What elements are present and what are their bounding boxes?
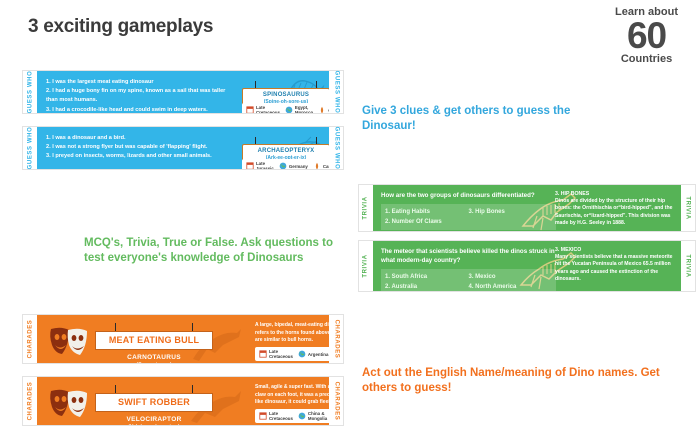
english-name: SWIFT ROBBER — [98, 397, 210, 408]
badge-label: Late Jurassic — [256, 161, 274, 169]
infographic-page: 3 exciting gameplays Learn about 60 Coun… — [0, 0, 700, 444]
globe-icon — [298, 350, 306, 358]
badge-label: Carnivore — [323, 164, 329, 169]
clue-item: 3. I preyed on insects, worms, lizards a… — [46, 152, 236, 161]
charades-card[interactable]: CHARADES MEAT EATING BULL CAR — [22, 314, 344, 364]
trivia-answer-block: 3. MEXICO Many scientists believe that a… — [555, 246, 673, 284]
trivia-option[interactable] — [469, 217, 553, 227]
trivia-question: How are the two groups of dinosaurs diff… — [381, 191, 556, 200]
charades-tab-left: CHARADES — [23, 377, 37, 425]
badge-region: China & Mongolia — [298, 411, 327, 421]
clue-item: 3. I had a crocodile-like head and could… — [46, 106, 236, 113]
trivia-option[interactable]: 4. North America — [469, 282, 553, 291]
guess-who-card[interactable]: GUESS WHO 1. I was the largest meat eati… — [22, 70, 344, 114]
trivia-tab-label: TRIVIA — [685, 196, 691, 219]
trivia-answer-title: 3. HIP BONES — [555, 190, 673, 198]
charades-description: Small, agile & super fast. With a sickle… — [255, 384, 329, 407]
period-icon — [259, 412, 267, 420]
badge-period: Late Cretaceous — [246, 105, 280, 113]
trivia-option[interactable]: 2. Number Of Claws — [385, 217, 469, 227]
clue-item: 1. I was the largest meat eating dinosau… — [46, 78, 236, 87]
badge-label: Egypt, Morocco — [295, 105, 313, 113]
trivia-question: The meteor that scientists believe kille… — [381, 247, 556, 265]
guess-who-tab-left: GUESS WHO — [23, 127, 37, 169]
scientific-name: CARNOTAURUS — [95, 353, 213, 362]
charades-tab-label: CHARADES — [27, 320, 33, 359]
badge-region: Argentina — [298, 350, 329, 358]
trivia-tab-label: TRIVIA — [685, 254, 691, 277]
badge-label: China & Mongolia — [308, 411, 327, 421]
fact-badges: Late Jurassic Germany Carnivore — [242, 159, 329, 169]
sign-strings — [95, 323, 213, 331]
charades-tab-left: CHARADES — [23, 315, 37, 363]
guess-who-tab-left: GUESS WHO — [23, 71, 37, 113]
badge-period: Late Cretaceous — [259, 411, 293, 421]
charades-instruction: Act out the English Name/meaning of Dino… — [362, 366, 662, 396]
guess-who-instruction: Give 3 clues & get others to guess the D… — [362, 104, 592, 134]
trivia-tab-left: TRIVIA — [359, 185, 373, 231]
trivia-instruction: MCQ's, Trivia, True or False. Ask questi… — [84, 236, 339, 266]
guess-who-tab-label: GUESS WHO — [27, 71, 33, 114]
globe-icon — [279, 162, 287, 169]
trivia-question-block: The meteor that scientists believe kille… — [381, 247, 556, 291]
trivia-option[interactable]: 3. Mexico — [469, 272, 553, 282]
guess-who-card-body: 1. I was a dinosaur and a bird. 2. I was… — [37, 127, 329, 169]
badge-label: Late Cretaceous — [256, 105, 280, 113]
guess-who-tab-label: GUESS WHO — [333, 127, 339, 170]
sign-plate: MEAT EATING BULL — [95, 331, 213, 350]
clue-list: 1. I was the largest meat eating dinosau… — [46, 78, 236, 113]
badge-label: Argentina — [308, 352, 329, 357]
period-icon — [246, 106, 254, 113]
sign-plate: SWIFT ROBBER — [95, 393, 213, 412]
charades-name-sign: MEAT EATING BULL CARNOTAURUS (Car-no-tor… — [95, 323, 213, 363]
guess-who-tab-label: GUESS WHO — [27, 127, 33, 170]
trivia-option[interactable]: 2. Australia — [385, 282, 469, 291]
trivia-tab-right: TRIVIA — [681, 185, 695, 231]
english-name: MEAT EATING BULL — [98, 335, 210, 346]
countries-label: Countries — [615, 53, 678, 66]
trivia-answer-title: 3. MEXICO — [555, 246, 673, 254]
trivia-tab-left: TRIVIA — [359, 241, 373, 291]
clue-item: 2. I was not a strong flyer but was capa… — [46, 143, 236, 152]
learn-about-badge: Learn about 60 Countries — [615, 6, 678, 66]
guess-who-card[interactable]: GUESS WHO 1. I was a dinosaur and a bird… — [22, 126, 344, 170]
diet-icon — [313, 162, 321, 169]
globe-icon — [285, 106, 293, 113]
clue-item: 1. I was a dinosaur and a bird. — [46, 134, 236, 143]
period-icon — [246, 162, 254, 169]
clue-item: 2. I had a huge bony fin on my spine, kn… — [46, 87, 236, 105]
trivia-options: 1. South Africa 3. Mexico 2. Australia 4… — [381, 269, 556, 291]
trivia-options: 1. Eating Habits 3. Hip Bones 2. Number … — [381, 204, 556, 230]
trivia-card[interactable]: TRIVIA How are the two groups of dinosau… — [358, 184, 696, 232]
guess-who-tab-right: GUESS WHO — [329, 71, 343, 113]
badge-label: Germany — [289, 164, 308, 169]
fact-badges: Late Cretaceous Egypt, Morocco Carnivore — [242, 103, 329, 113]
trivia-answer-text: Dinos are divided by the structure of th… — [555, 198, 673, 228]
diet-icon — [318, 106, 326, 113]
sign-strings — [242, 81, 329, 88]
period-icon — [259, 350, 267, 358]
trivia-tab-label: TRIVIA — [363, 254, 369, 277]
charades-tab-label: CHARADES — [333, 320, 339, 359]
badge-period: Late Jurassic — [246, 161, 274, 169]
trivia-question-block: How are the two groups of dinosaurs diff… — [381, 191, 556, 230]
badge-label: Carnivore — [328, 108, 329, 113]
trivia-tab-right: TRIVIA — [681, 241, 695, 291]
trivia-tab-label: TRIVIA — [363, 196, 369, 219]
sign-strings — [95, 385, 213, 393]
country-count: 60 — [615, 19, 678, 53]
guess-who-card-body: 1. I was the largest meat eating dinosau… — [37, 71, 329, 113]
charades-card-body: MEAT EATING BULL CARNOTAURUS (Car-no-tor… — [37, 315, 329, 363]
trivia-option[interactable]: 1. Eating Habits — [385, 207, 469, 217]
clue-list: 1. I was a dinosaur and a bird. 2. I was… — [46, 134, 236, 162]
charades-card[interactable]: CHARADES SWIFT ROBBER VELOCIR — [22, 376, 344, 426]
badge-region: Egypt, Morocco — [285, 105, 313, 113]
dino-pronunciation: (Car-no-tor-us) — [95, 362, 213, 363]
charades-tab-label: CHARADES — [27, 382, 33, 421]
trivia-option[interactable]: 1. South Africa — [385, 272, 469, 282]
trivia-option[interactable]: 3. Hip Bones — [469, 207, 553, 217]
guess-who-tab-label: GUESS WHO — [333, 71, 339, 114]
trivia-answer-block: 3. HIP BONES Dinos are divided by the st… — [555, 190, 673, 228]
badge-diet: Carnivore — [313, 162, 329, 169]
trivia-answer-text: Many scientists believe that a massive m… — [555, 254, 673, 284]
trivia-card-body: The meteor that scientists believe kille… — [373, 241, 681, 291]
badge-label: Late Cretaceous — [269, 349, 293, 359]
trivia-card[interactable]: TRIVIA The meteor that scientists believ… — [358, 240, 696, 292]
page-title: 3 exciting gameplays — [28, 16, 213, 38]
badge-period: Late Cretaceous — [259, 349, 293, 359]
badge-label: Late Cretaceous — [269, 411, 293, 421]
theatre-masks-icon — [47, 325, 91, 359]
fact-badges: Late Cretaceous China & Mongolia Carnivo… — [255, 409, 329, 423]
charades-tab-right: CHARADES — [329, 315, 343, 363]
charades-tab-label: CHARADES — [333, 382, 339, 421]
charades-description: A large, bipedal, meat-eating dinosaur. … — [255, 322, 329, 345]
dino-name: SPINOSAURUS — [245, 91, 327, 99]
charades-tab-right: CHARADES — [329, 377, 343, 425]
charades-name-sign: SWIFT ROBBER VELOCIRAPTOR (Veh-loss-uh-r… — [95, 385, 213, 425]
dino-pronunciation: (Veh-loss-uh-rap-tow) — [95, 424, 213, 425]
charades-card-body: SWIFT ROBBER VELOCIRAPTOR (Veh-loss-uh-r… — [37, 377, 329, 425]
sign-strings — [242, 137, 329, 144]
fact-badges: Late Cretaceous Argentina Carnivore — [255, 347, 329, 361]
scientific-name: VELOCIRAPTOR — [95, 415, 213, 424]
dino-name: ARCHAEOPTERYX — [245, 147, 327, 155]
theatre-masks-icon — [47, 387, 91, 421]
badge-region: Germany — [279, 162, 308, 169]
badge-diet: Carnivore — [318, 106, 329, 113]
trivia-card-body: How are the two groups of dinosaurs diff… — [373, 185, 681, 231]
globe-icon — [298, 412, 306, 420]
guess-who-tab-right: GUESS WHO — [329, 127, 343, 169]
